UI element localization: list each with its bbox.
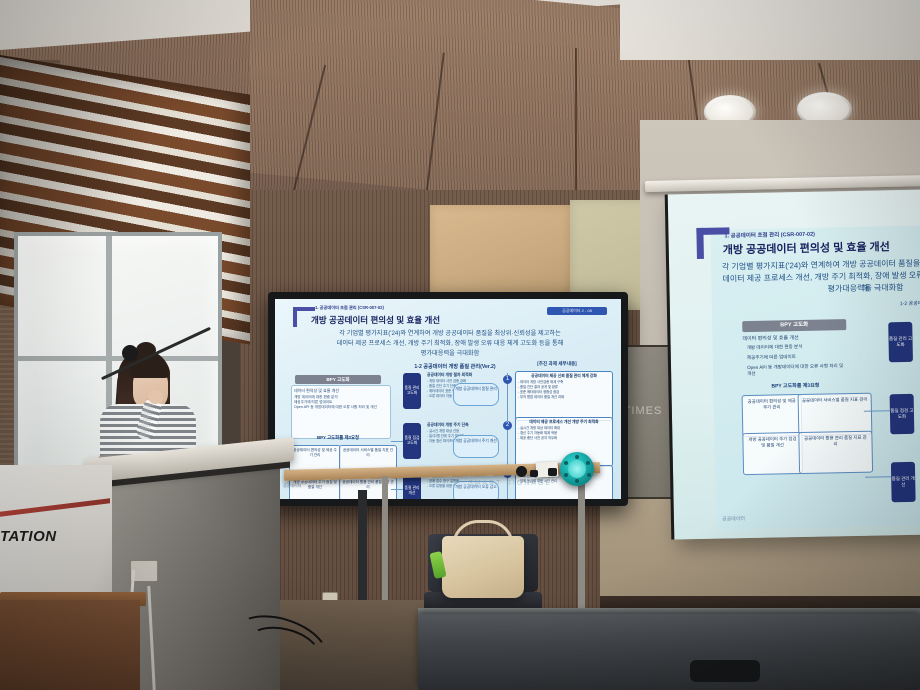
left-grid-box: 공공데이터 편의성 및 제공 주기 관리 (742, 394, 803, 437)
right-group-label: [추진 과제 세부내용] (507, 361, 607, 367)
process-tab: 품질 관리 개선 (891, 462, 916, 502)
left-table (0, 600, 140, 690)
conference-speaker-puck[interactable] (560, 452, 594, 486)
right-box-line: - 부처 협업 데이터 품질 개선 과제 (518, 394, 610, 399)
process-tab: 품질 관리 개선 (403, 475, 421, 499)
process-tab: 품질 관리 고도화 (888, 322, 913, 362)
left-panel-caption: BPY 고도화를 제3요청 (291, 435, 385, 441)
podium-brand-label: TATION (0, 528, 112, 545)
left-panel-header: BPY 고도화 (295, 375, 381, 384)
right-box-number: 2 (503, 421, 512, 430)
left-panel-bullet-3: Open API 등 개방데이터에 대한 오류 사항 처리 및 개선 (747, 363, 847, 377)
slide-page-badge: 공공데이터 2 - 08 (547, 307, 607, 315)
projector-screen: 1. 공공데이터 초점 관리 (CSR-007-02) 개방 공공데이터 편의성… (665, 189, 920, 539)
small-desk-object (530, 470, 538, 477)
beige-handbag[interactable] (442, 536, 524, 598)
left-panel-caption: BPY 고도화를 제3요청 (743, 381, 847, 390)
slide-section-header: 1-2 공공데이터 개방 품질 관리(Ver.2) (900, 299, 920, 307)
remote-control[interactable] (516, 466, 527, 477)
slide-lead-2: 데이터 제공 프로세스 개선, 개방 주기 최적화, 장애 발생 오류 대응 체… (295, 339, 605, 348)
process-tab: 품질 점검 고도화 (403, 423, 421, 459)
callout: 개방 공공데이터 주기 개선 (453, 435, 499, 458)
left-panel-bullet-2: 제공주기에 따른 업데이트 (747, 353, 847, 361)
callout: 개방 공공데이터 품질 관리 (453, 383, 499, 406)
presenter-hand (148, 390, 163, 404)
left-panel-sub: 데이터 편의성 및 효율 개선 (294, 388, 388, 394)
slide-footer-brand: 공공데이터 (283, 483, 301, 489)
left-grid-box: 개방 공공데이터 주기 점검 및 품질 개선 (742, 432, 803, 475)
left-panel-header: BPY 고도화 (742, 319, 846, 332)
process-tab: 품질 점검 고도화 (890, 394, 915, 434)
right-box-number: 1 (503, 375, 512, 384)
left-grid-box: 공공데이터 활용 관리 품질 지표 관리 (339, 477, 397, 499)
window-mullion (18, 356, 218, 361)
left-panel-sub: 데이터 편의성 및 효율 개선 (742, 333, 846, 342)
slide-section-header: 1-2 공공데이터 개방 품질 관리(Ver.2) (385, 363, 525, 370)
left-grid-box: 공공데이터 서비스별 품질 지표 관리 (798, 393, 873, 436)
tv-table-leg (578, 474, 585, 624)
left-panel-bullet-1: 개방 데이터에 대한 편중 분석 (747, 343, 847, 351)
small-desk-object (548, 468, 557, 476)
slide-lead-3: 평가대응력을 극대화함 (295, 349, 605, 358)
room-photo: TIMES 1. 공공데이터 초점 관리 (CSR-007-02) 개방 공공데… (0, 0, 920, 690)
front-table (418, 614, 920, 690)
tv-brand-label: SMART SIGNAGE (455, 480, 565, 487)
slide-lead-1: 각 기업별 평가지표('24)와 연계하여 개방 공공데이터 품질을 최상위·신… (295, 329, 605, 338)
slide-kicker: 1. 공공데이터 초점 관리 (CSR-007-02) (315, 305, 384, 311)
left-panel-bullet-3: Open API 등 개방데이터에 대한 오류 사항 처리 및 개선 (294, 405, 388, 410)
slide-title: 개방 공공데이터 편의성 및 효율 개선 (311, 314, 440, 326)
left-grid-box: 공공데이터 활용 관리 품질 지표 관리 (798, 431, 873, 474)
ceiling-white-right (620, 0, 920, 60)
process-tab: 품질 관리 고도화 (403, 373, 421, 409)
desk-item-dark (690, 660, 760, 682)
right-box-line: - 제공 중단 사전 공지 의무화 (518, 435, 610, 440)
microphone-head[interactable] (122, 345, 138, 361)
slide-kicker: 1. 공공데이터 초점 관리 (CSR-007-02) (724, 230, 815, 240)
projected-slide: 1. 공공데이터 초점 관리 (CSR-007-02) 개방 공공데이터 편의성… (710, 224, 920, 530)
right-detail-box: 공공데이터 제공 신뢰 품질 관리 체계 강화 - 데이터 개방 사전검증 체계… (515, 371, 613, 421)
slide-footer-brand: 공공데이터 (722, 515, 745, 522)
slide-title: 개방 공공데이터 편의성 및 효율 개선 (723, 238, 890, 257)
wall-patch-tan (430, 205, 570, 305)
